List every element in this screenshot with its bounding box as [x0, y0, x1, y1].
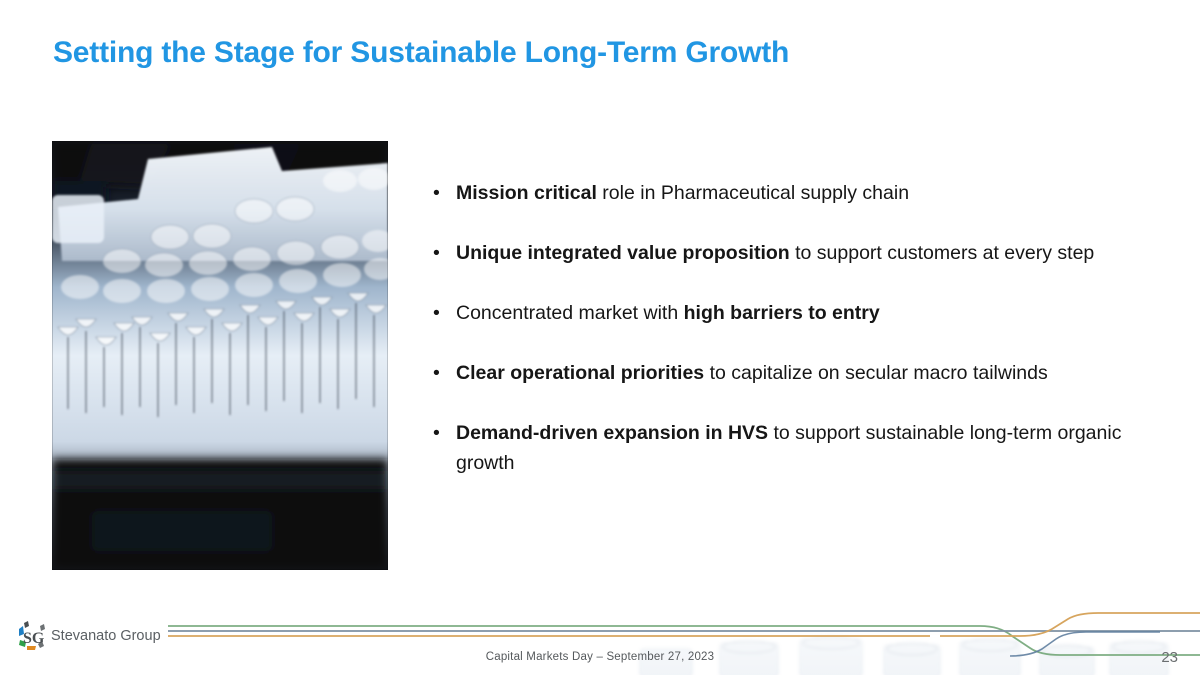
bullet-text: Demand-driven expansion in HVS to suppor…: [456, 422, 1121, 474]
bullet-text: Mission critical role in Pharmaceutical …: [456, 182, 909, 204]
bullet-item: •Mission critical role in Pharmaceutical…: [428, 178, 1128, 208]
bullet-marker-icon: •: [433, 298, 440, 328]
page-title: Setting the Stage for Sustainable Long-T…: [53, 36, 789, 70]
bullet-text-plain: to support customers at every step: [790, 242, 1095, 264]
bullet-text-strong: Demand-driven expansion in HVS: [456, 422, 768, 444]
bullet-marker-icon: •: [433, 238, 440, 268]
bullet-text-strong: Mission critical: [456, 182, 597, 204]
bullet-list: •Mission critical role in Pharmaceutical…: [428, 178, 1128, 478]
bullet-item: •Clear operational priorities to capital…: [428, 358, 1128, 388]
bullet-marker-icon: •: [433, 358, 440, 388]
bullet-text: Clear operational priorities to capitali…: [456, 362, 1048, 384]
stevanato-group-logo: SG Stevanato Group: [14, 619, 164, 653]
production-line-photo: [52, 141, 388, 570]
bullet-text-strong: high barriers to entry: [684, 302, 880, 324]
slide-root: Setting the Stage for Sustainable Long-T…: [0, 0, 1200, 675]
bullet-marker-icon: •: [433, 418, 440, 448]
slide-footer: SG Stevanato Group Capital Markets Day –…: [0, 603, 1200, 675]
footer-decorative-lines: [0, 603, 1200, 675]
bullet-text: Concentrated market with high barriers t…: [456, 302, 880, 324]
bullet-text-plain: to capitalize on secular macro tailwinds: [704, 362, 1048, 384]
footer-caption: Capital Markets Day – September 27, 2023: [0, 651, 1200, 663]
bullet-text-strong: Clear operational priorities: [456, 362, 704, 384]
logo-wordmark: Stevanato Group: [51, 628, 161, 644]
sg-monogram-icon: SG: [14, 620, 48, 652]
bullet-item: •Unique integrated value proposition to …: [428, 238, 1128, 268]
svg-text:SG: SG: [23, 630, 45, 647]
bullet-marker-icon: •: [433, 178, 440, 208]
bullet-text-strong: Unique integrated value proposition: [456, 242, 790, 264]
bullet-text-plain: role in Pharmaceutical supply chain: [597, 182, 909, 204]
bullet-text-plain: Concentrated market with: [456, 302, 684, 324]
bullet-item: •Concentrated market with high barriers …: [428, 298, 1128, 328]
bullet-text: Unique integrated value proposition to s…: [456, 242, 1094, 264]
page-number: 23: [1161, 649, 1178, 666]
bullet-item: •Demand-driven expansion in HVS to suppo…: [428, 418, 1128, 478]
